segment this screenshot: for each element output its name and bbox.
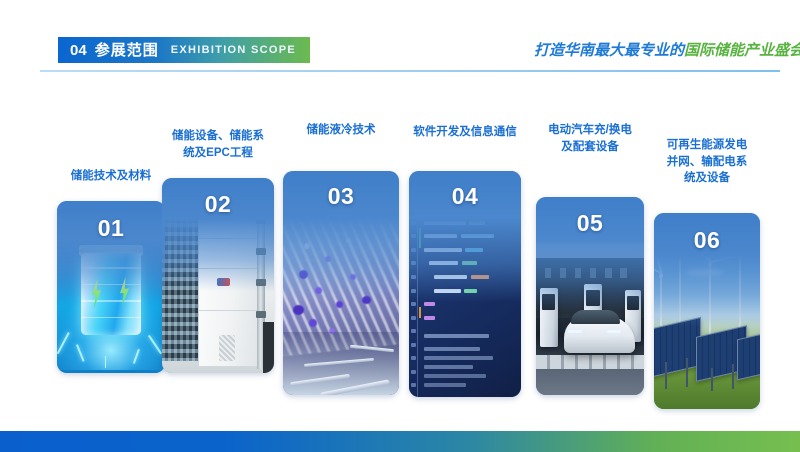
scope-card-image-2[interactable]: 02 bbox=[162, 178, 274, 373]
footer-gradient-bar bbox=[0, 431, 800, 452]
scope-card-label-4: 软件开发及信息通信 bbox=[395, 124, 535, 141]
scope-card-image-4[interactable]: 04 bbox=[409, 171, 521, 397]
scope-card-label-2: 储能设备、储能系 统及EPC工程 bbox=[148, 128, 288, 161]
scope-card-label-3: 储能液冷技术 bbox=[271, 122, 411, 139]
exhibition-scope-card-row: 储能技术及材料 bbox=[0, 0, 800, 452]
scope-card-image-1[interactable]: 01 bbox=[57, 201, 165, 373]
scope-card-image-6[interactable]: 06 bbox=[654, 213, 760, 409]
scope-card-label-1: 储能技术及材料 bbox=[41, 168, 181, 185]
scope-card-number-5: 05 bbox=[536, 210, 644, 237]
scope-card-number-6: 06 bbox=[654, 227, 760, 254]
slide-root: 04 参展范围 EXHIBITION SCOPE 打造华南最大最专业的国际储能产… bbox=[0, 0, 800, 452]
scope-card-image-3[interactable]: 03 bbox=[283, 171, 399, 395]
scope-card-number-4: 04 bbox=[409, 183, 521, 210]
scope-card-number-1: 01 bbox=[57, 215, 165, 242]
scope-card-number-2: 02 bbox=[162, 191, 274, 218]
scope-card-image-5[interactable]: 05 bbox=[536, 197, 644, 395]
scope-card-label-6: 可再生能源发电 并网、输配电系 统及设备 bbox=[637, 137, 777, 187]
scope-card-number-3: 03 bbox=[283, 183, 399, 210]
